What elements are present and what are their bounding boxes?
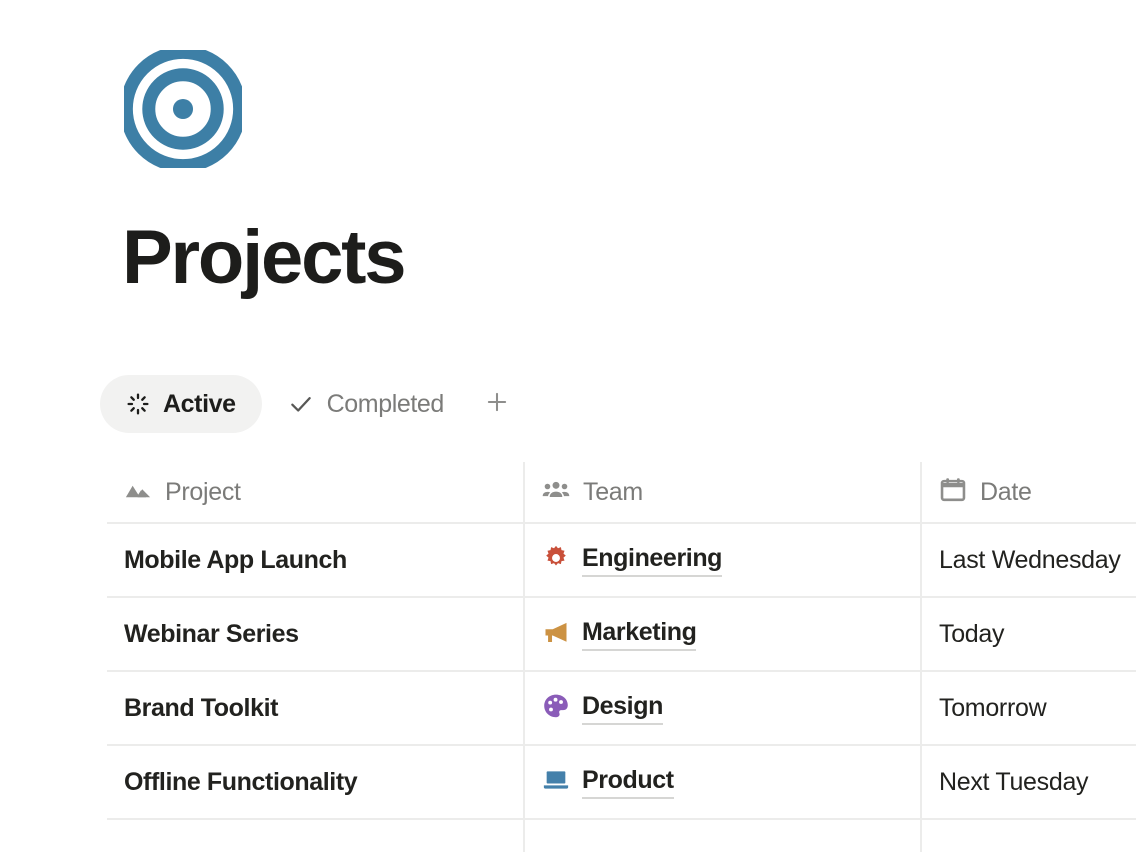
table-header-row: Project Team [107,462,1136,524]
cell-team[interactable]: Product [523,746,920,818]
project-name: Webinar Series [124,620,299,649]
team-link[interactable]: Design [582,692,663,725]
cell-team[interactable]: Marketing [523,598,920,670]
date-value: Next Tuesday [939,768,1088,797]
column-header-date-label: Date [980,478,1032,507]
tab-active-label: Active [163,390,236,419]
table-row[interactable]: Mobile App Launch Engineering Last Wedne… [107,524,1136,598]
projects-table: Project Team [107,462,1136,852]
tab-completed[interactable]: Completed [262,375,470,433]
tab-bar: Active Completed [100,375,520,433]
cell-date[interactable]: Last Wednesday [920,524,1136,596]
add-tab-button[interactable] [474,378,520,430]
cell-project[interactable]: Mobile App Launch [107,524,523,596]
people-group-icon [542,476,570,509]
cell-project[interactable] [107,820,523,852]
cell-date[interactable]: Next Tuesday [920,746,1136,818]
project-name: Offline Functionality [124,768,357,797]
team-link[interactable]: Product [582,766,674,799]
table-row[interactable]: Brand Toolkit Design [107,672,1136,746]
check-icon [288,391,314,417]
cell-project[interactable]: Webinar Series [107,598,523,670]
cell-date[interactable]: Today [920,598,1136,670]
laptop-icon [542,766,570,799]
mountains-icon [124,476,152,509]
cell-team[interactable]: Design [523,672,920,744]
column-header-project[interactable]: Project [107,462,523,522]
calendar-icon [939,476,967,509]
table-row[interactable]: Offline Functionality Product Next Tuesd… [107,746,1136,820]
plus-icon [484,389,510,420]
date-value: Last Wednesday [939,546,1121,575]
column-header-team-label: Team [583,478,643,507]
cell-team[interactable] [523,820,920,852]
column-header-date[interactable]: Date [920,462,1136,522]
column-header-project-label: Project [165,478,241,507]
megaphone-icon [542,618,570,651]
table-row[interactable] [107,820,1136,852]
project-name: Brand Toolkit [124,694,278,723]
team-link[interactable]: Marketing [582,618,696,651]
project-name: Mobile App Launch [124,546,347,575]
team-link[interactable]: Engineering [582,544,722,577]
spinner-icon [126,392,150,416]
cell-date[interactable] [920,820,1136,852]
tab-completed-label: Completed [327,390,444,419]
gear-icon [542,544,570,577]
cell-date[interactable]: Tomorrow [920,672,1136,744]
palette-icon [542,692,570,725]
page-title: Projects [122,210,404,306]
table-row[interactable]: Webinar Series Marketing Today [107,598,1136,672]
column-header-team[interactable]: Team [523,462,920,522]
cell-team[interactable]: Engineering [523,524,920,596]
projects-page: Projects Active [0,0,1136,852]
cell-project[interactable]: Offline Functionality [107,746,523,818]
date-value: Today [939,620,1004,649]
target-bullseye-icon [124,50,242,168]
cell-project[interactable]: Brand Toolkit [107,672,523,744]
tab-active[interactable]: Active [100,375,262,433]
date-value: Tomorrow [939,694,1046,723]
